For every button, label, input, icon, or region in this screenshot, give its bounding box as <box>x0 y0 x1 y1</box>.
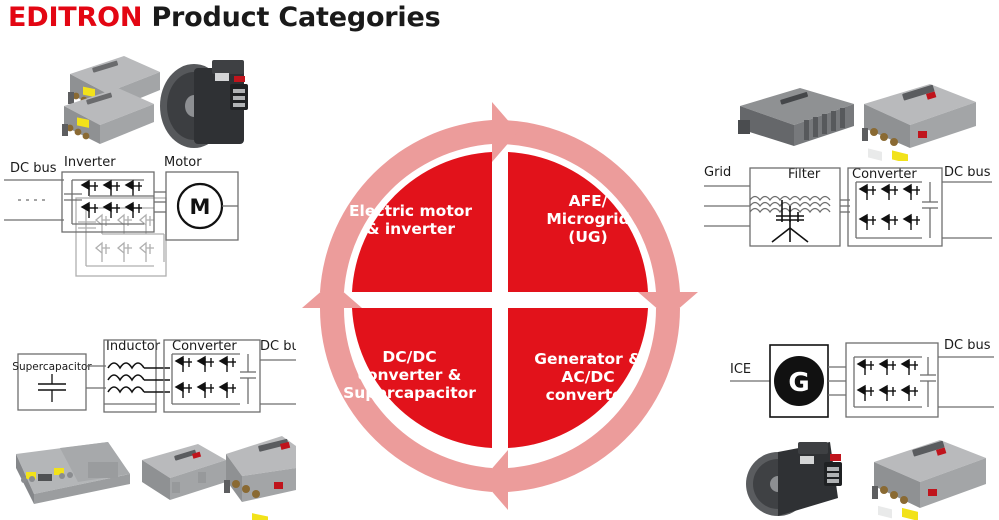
converter-box-connectors-photo-2 <box>224 436 296 520</box>
wheel-ring-arrows <box>302 102 698 510</box>
label-ice: ICE <box>730 362 751 377</box>
page-title-text: Product Categories <box>151 2 440 33</box>
label-inverter: Inverter <box>64 155 116 170</box>
generator-symbol-G: G <box>788 368 809 398</box>
label-filter: Filter <box>788 167 821 182</box>
flat-converter-photo <box>16 442 130 504</box>
igbt-symbols <box>82 181 142 218</box>
label-grid: Grid <box>704 165 731 180</box>
quadrant-label-dcdc-supercapacitor[interactable]: DC/DC converter & Supercapacitor <box>322 348 497 402</box>
label-converter: Converter <box>852 167 917 182</box>
igbt-symbols <box>858 360 918 401</box>
inverter-and-motor-photos <box>52 46 267 156</box>
product-category-wheel: Electric motor & inverter AFE/ Microgrid… <box>296 96 704 520</box>
label-dc-bus-bl: DC bus <box>260 339 296 354</box>
generator-motor-photo <box>746 442 842 516</box>
brand-name: EDITRON <box>8 2 142 33</box>
generator-converter-photos <box>734 436 996 520</box>
label-dc-bus-right: DC bus <box>944 165 991 180</box>
page-title: EDITRON Product Categories <box>8 2 440 33</box>
quadrant-label-generator-acdc[interactable]: Generator & AC/DC converter <box>508 350 668 404</box>
converter-box-plain-photo <box>738 88 854 146</box>
grey-module-photo <box>142 444 226 500</box>
acdc-converter-block <box>846 343 938 417</box>
igbt-symbols <box>860 185 920 230</box>
label-dc-bus-br: DC bus <box>944 338 991 353</box>
generator-acdc-schematic: ICE DC bus G <box>726 325 996 435</box>
afe-converter-photos <box>722 76 987 161</box>
motor-symbol-M: M <box>190 195 211 219</box>
slide-root: EDITRON Product Categories <box>0 0 999 520</box>
electric-motor-photo <box>160 60 248 148</box>
quadrant-label-electric-motor[interactable]: Electric motor & inverter <box>328 202 493 238</box>
converter-box-connectors-photo-3 <box>872 440 986 520</box>
label-converter-2: Converter <box>172 339 237 354</box>
quadrant-label-afe-microgrid[interactable]: AFE/ Microgrid (UG) <box>508 192 668 246</box>
supercapacitor-converter-schematic: Inductor Converter DC bus Supercapacitor <box>4 330 296 430</box>
label-motor: Motor <box>164 155 202 170</box>
inverter-motor-schematic: DC bus Inverter Motor <box>4 150 254 290</box>
label-supercapacitor: Supercapacitor <box>12 361 92 373</box>
grid-filter-converter-schematic: Grid Filter Converter DC bus <box>700 158 995 263</box>
label-dc-bus-left: DC bus <box>10 161 57 176</box>
label-inductor: Inductor <box>106 339 161 354</box>
igbt-symbols <box>176 357 236 398</box>
dcdc-supercapacitor-photos <box>2 432 297 520</box>
converter-box-connectors-photo <box>862 84 976 161</box>
